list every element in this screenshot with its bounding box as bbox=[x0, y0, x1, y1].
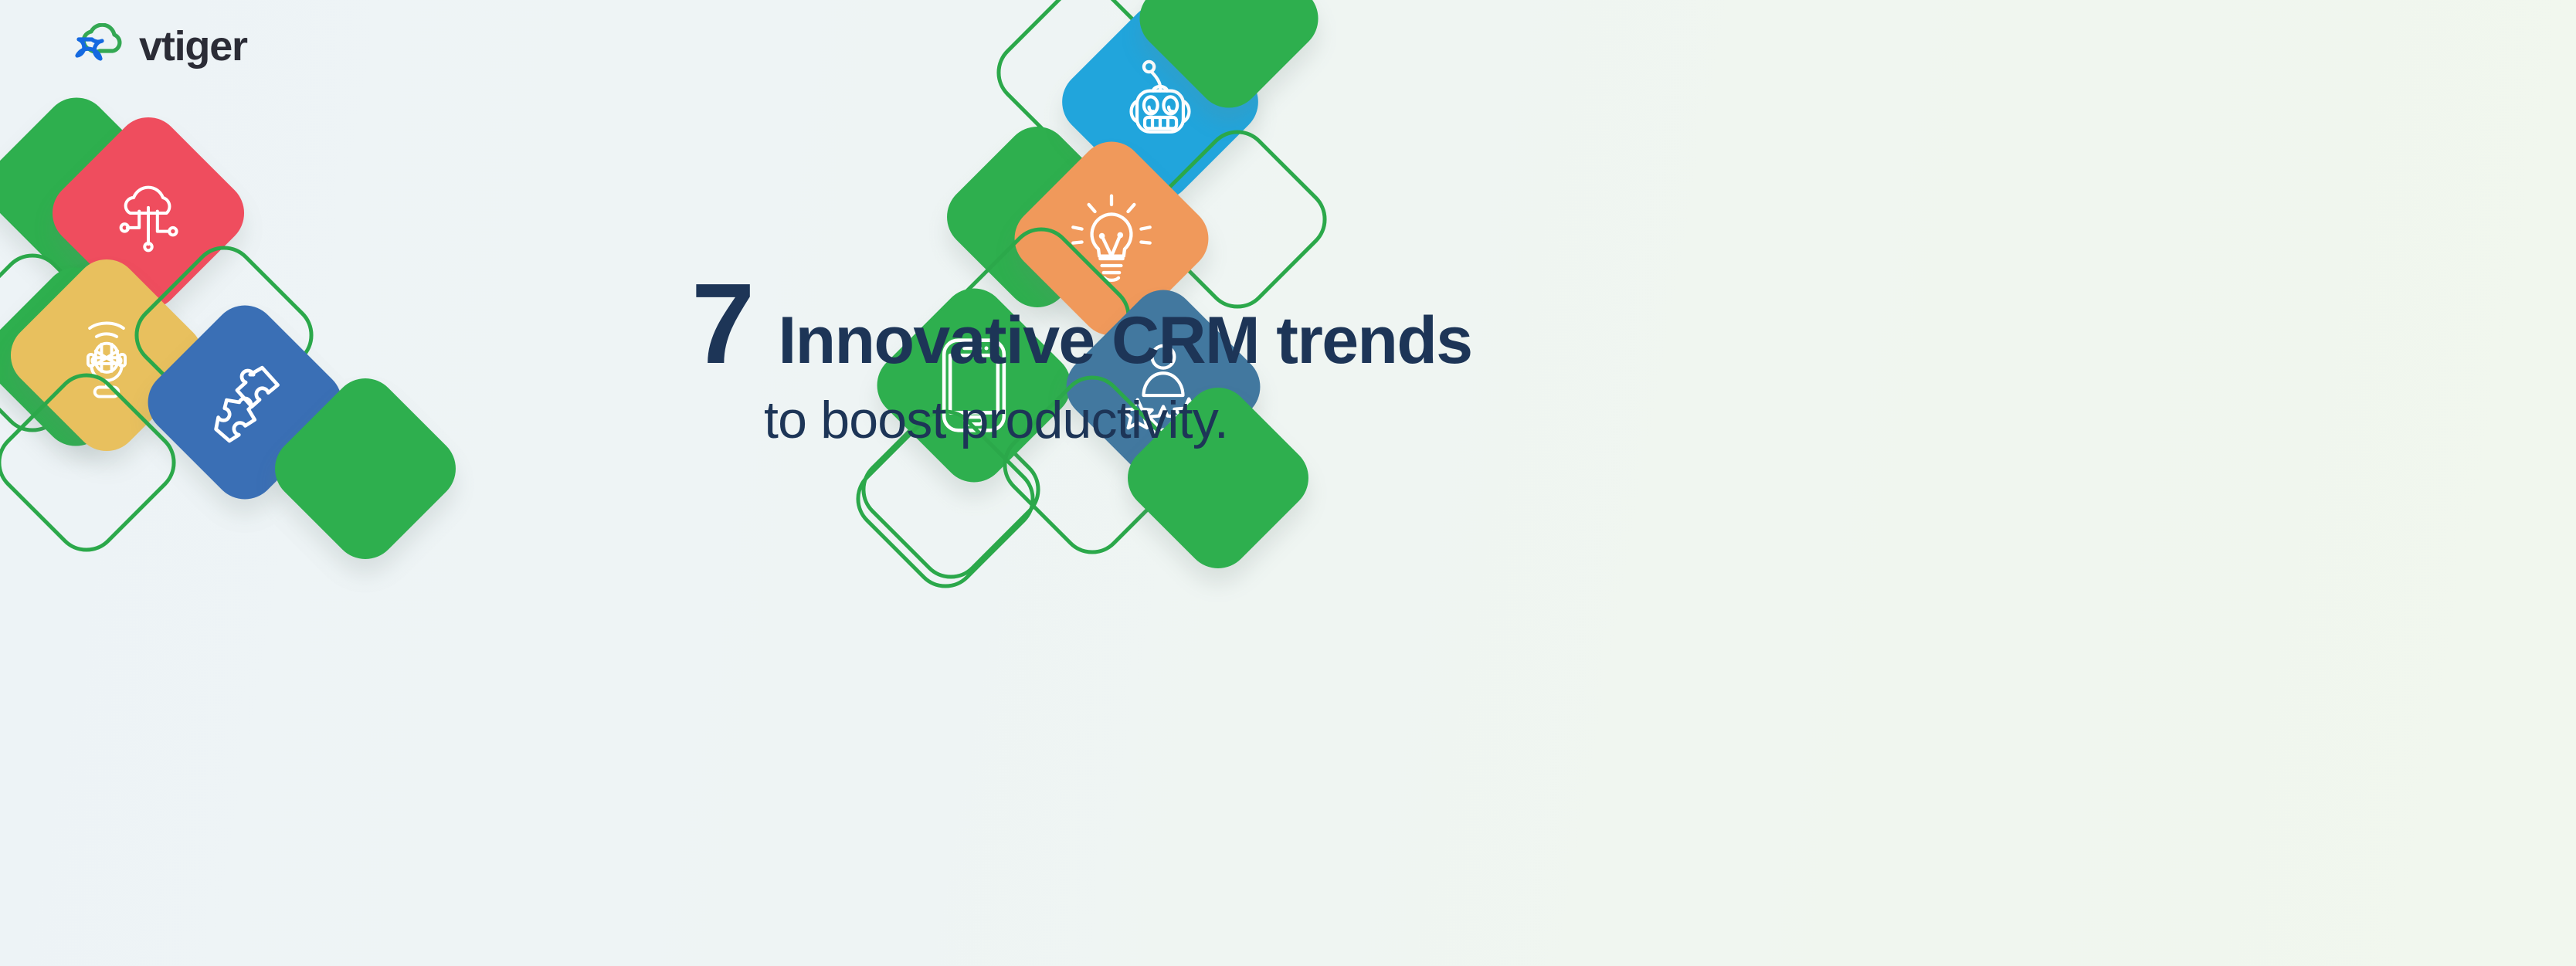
puzzle-pieces-icon bbox=[196, 359, 294, 446]
vtiger-logo[interactable]: vtiger bbox=[63, 23, 247, 66]
headline-block: 7 Innovative CRM trends to boost product… bbox=[691, 272, 1850, 446]
marketing-banner: vtiger 7 Innovative CRM trends to boost … bbox=[0, 0, 2576, 966]
vtiger-wordmark: vtiger bbox=[139, 25, 247, 67]
two-clouds-icon bbox=[63, 23, 128, 66]
headline-numeral: 7 bbox=[691, 272, 752, 377]
headline-subtitle: to boost productivity. bbox=[764, 394, 1850, 446]
headline-line-1: 7 Innovative CRM trends bbox=[691, 272, 1850, 377]
cloud-network-icon bbox=[103, 168, 194, 259]
headline-title: Innovative CRM trends bbox=[778, 307, 1471, 374]
